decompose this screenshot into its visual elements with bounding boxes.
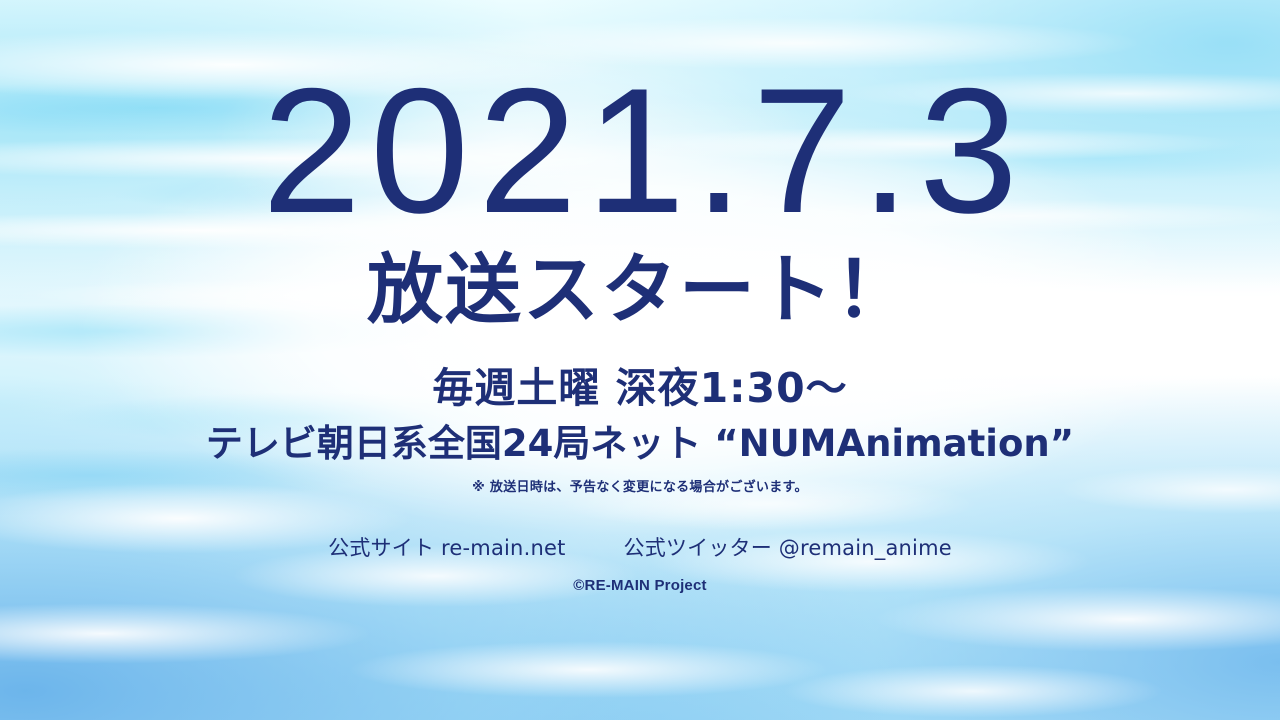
official-site-link[interactable]: 公式サイト re-main.net <box>328 538 565 559</box>
broadcast-network: テレビ朝日系全国24局ネット “NUMAnimation” <box>206 425 1074 462</box>
announcement-content: 2021.7.3 放送スタート！ 毎週土曜 深夜1:30〜 テレビ朝日系全国24… <box>0 0 1280 720</box>
official-links-row: 公式サイト re-main.net 公式ツイッター @remain_anime <box>328 538 952 559</box>
broadcast-timeslot: 毎週土曜 深夜1:30〜 <box>432 368 847 409</box>
schedule-change-notice: ※ 放送日時は、予告なく変更になる場合がございます。 <box>472 481 808 494</box>
broadcast-start-headline: 放送スタート！ <box>367 252 913 328</box>
video-frame: 2021.7.3 放送スタート！ 毎週土曜 深夜1:30〜 テレビ朝日系全国24… <box>0 0 1280 720</box>
broadcast-date: 2021.7.3 <box>253 62 1027 240</box>
official-twitter-link[interactable]: 公式ツイッター @remain_anime <box>624 538 952 559</box>
copyright-notice: ©RE-MAIN Project <box>573 578 706 593</box>
